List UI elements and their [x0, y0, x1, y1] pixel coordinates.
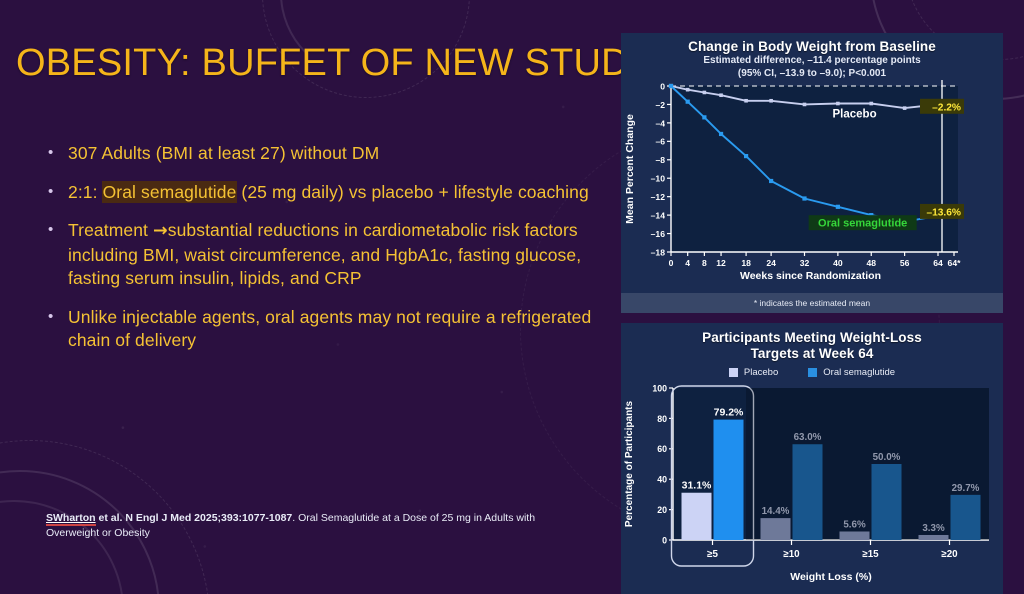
- svg-text:31.1%: 31.1%: [682, 480, 712, 492]
- svg-text:64*: 64*: [948, 258, 962, 268]
- bar-chart-plot-area: 020406080100Percentage of ParticipantsWe…: [621, 378, 1003, 588]
- svg-text:–16: –16: [651, 229, 666, 239]
- legend-item-placebo: Placebo: [729, 367, 778, 378]
- bullet-text: 307 Adults (BMI at least 27) without DM: [68, 142, 379, 166]
- svg-text:≥10: ≥10: [783, 549, 800, 560]
- svg-text:24: 24: [766, 258, 776, 268]
- legend-swatch-oral-semaglutide: [808, 368, 817, 377]
- svg-text:32: 32: [800, 258, 810, 268]
- bar-chart-svg: 020406080100Percentage of ParticipantsWe…: [621, 378, 1003, 588]
- svg-text:0: 0: [660, 81, 665, 91]
- bullet-segment-highlighted: Oral semaglutide: [103, 182, 237, 202]
- svg-text:0: 0: [669, 258, 674, 268]
- bullet-text: Treatment →substantial reductions in car…: [68, 219, 604, 291]
- svg-text:40: 40: [833, 258, 843, 268]
- bullet-marker: •: [44, 142, 68, 166]
- bullet-marker: •: [44, 219, 68, 291]
- legend-label-oral-semaglutide: Oral semaglutide: [823, 367, 895, 378]
- legend-item-oral-semaglutide: Oral semaglutide: [808, 367, 895, 378]
- svg-text:40: 40: [657, 475, 667, 485]
- svg-text:–12: –12: [651, 192, 666, 202]
- svg-text:Mean Percent Change: Mean Percent Change: [624, 114, 636, 224]
- bullet-text: Unlike injectable agents, oral agents ma…: [68, 306, 604, 353]
- svg-text:≥5: ≥5: [707, 549, 718, 560]
- svg-text:12: 12: [716, 258, 726, 268]
- svg-text:4: 4: [685, 258, 690, 268]
- svg-text:≥20: ≥20: [941, 549, 958, 560]
- svg-text:Percentage of Participants: Percentage of Participants: [624, 400, 635, 527]
- bullet-segment: Treatment: [68, 220, 153, 240]
- list-item: • 2:1: Oral semaglutide (25 mg daily) vs…: [44, 181, 604, 205]
- svg-text:18: 18: [741, 258, 751, 268]
- svg-text:–2: –2: [655, 100, 665, 110]
- svg-text:48: 48: [866, 258, 876, 268]
- svg-text:Weight Loss (%): Weight Loss (%): [790, 571, 871, 583]
- svg-text:8: 8: [702, 258, 707, 268]
- svg-text:Placebo: Placebo: [833, 108, 877, 120]
- line-chart-header: Change in Body Weight from Baseline Esti…: [621, 33, 1003, 80]
- svg-text:100: 100: [652, 383, 667, 393]
- page-title: OBESITY: BUFFET OF NEW STUDIES: [16, 44, 691, 84]
- bullet-segment: Unlike injectable agents, oral agents ma…: [68, 307, 591, 351]
- bullet-marker: •: [44, 181, 68, 205]
- legend-label-placebo: Placebo: [744, 367, 778, 378]
- bullet-text: 2:1: Oral semaglutide (25 mg daily) vs p…: [68, 181, 589, 205]
- bar-chart-title-line1: Participants Meeting Weight-Loss: [629, 330, 995, 346]
- svg-text:–10: –10: [651, 174, 666, 184]
- svg-text:–14: –14: [651, 211, 666, 221]
- line-chart-footnote: * indicates the estimated mean: [621, 293, 1003, 313]
- right-arrow-icon: →: [153, 221, 168, 241]
- svg-text:Oral semaglutide: Oral semaglutide: [818, 218, 907, 230]
- line-chart-subtitle-2: (95% CI, –13.9 to –9.0); P<0.001: [629, 68, 995, 81]
- svg-text:0: 0: [662, 535, 667, 545]
- line-chart-svg: 0–2–4–6–8–10–12–14–16–180481218243240485…: [621, 80, 1003, 292]
- svg-text:–18: –18: [651, 247, 666, 257]
- citation-footnote: SWharton et al. N Engl J Med 2025;393:10…: [46, 511, 546, 540]
- list-item: • 307 Adults (BMI at least 27) without D…: [44, 142, 604, 166]
- bullet-marker: •: [44, 306, 68, 353]
- svg-text:–4: –4: [655, 118, 665, 128]
- svg-text:–8: –8: [655, 155, 665, 165]
- svg-text:20: 20: [657, 505, 667, 515]
- svg-text:64: 64: [933, 258, 943, 268]
- citation-reference: et al. N Engl J Med 2025;393:1077-1087: [96, 512, 293, 524]
- svg-text:Weeks since Randomization: Weeks since Randomization: [740, 270, 881, 282]
- bullet-segment: (25 mg daily) vs placebo + lifestyle coa…: [236, 182, 588, 202]
- svg-text:–2.2%: –2.2%: [932, 102, 961, 113]
- svg-text:≥15: ≥15: [862, 549, 879, 560]
- bullet-segment: 307 Adults (BMI at least 27) without DM: [68, 143, 379, 163]
- svg-text:60: 60: [657, 444, 667, 454]
- bar-chart-header: Participants Meeting Weight-Loss Targets…: [621, 323, 1003, 378]
- legend-swatch-placebo: [729, 368, 738, 377]
- svg-text:–6: –6: [655, 137, 665, 147]
- chart-panel-body-weight: Change in Body Weight from Baseline Esti…: [621, 33, 1003, 313]
- svg-text:56: 56: [900, 258, 910, 268]
- line-chart-subtitle-1: Estimated difference, –11.4 percentage p…: [629, 55, 995, 68]
- line-chart-title: Change in Body Weight from Baseline: [629, 39, 995, 55]
- line-chart-plot-area: 0–2–4–6–8–10–12–14–16–180481218243240485…: [621, 80, 1003, 292]
- misspelled-author-name: SWharton: [46, 512, 96, 526]
- chart-panel-weight-loss-targets: Participants Meeting Weight-Loss Targets…: [621, 323, 1003, 594]
- svg-text:80: 80: [657, 414, 667, 424]
- bar-chart-title-line2: Targets at Week 64: [629, 346, 995, 362]
- bullet-list: • 307 Adults (BMI at least 27) without D…: [44, 142, 604, 368]
- svg-text:–13.6%: –13.6%: [926, 207, 961, 218]
- list-item: • Treatment →substantial reductions in c…: [44, 219, 604, 291]
- list-item: • Unlike injectable agents, oral agents …: [44, 306, 604, 353]
- bar-chart-legend: Placebo Oral semaglutide: [629, 367, 995, 378]
- slide-canvas: OBESITY: BUFFET OF NEW STUDIES • 307 Adu…: [0, 0, 1024, 594]
- svg-text:79.2%: 79.2%: [714, 407, 744, 419]
- bullet-segment: 2:1:: [68, 182, 103, 202]
